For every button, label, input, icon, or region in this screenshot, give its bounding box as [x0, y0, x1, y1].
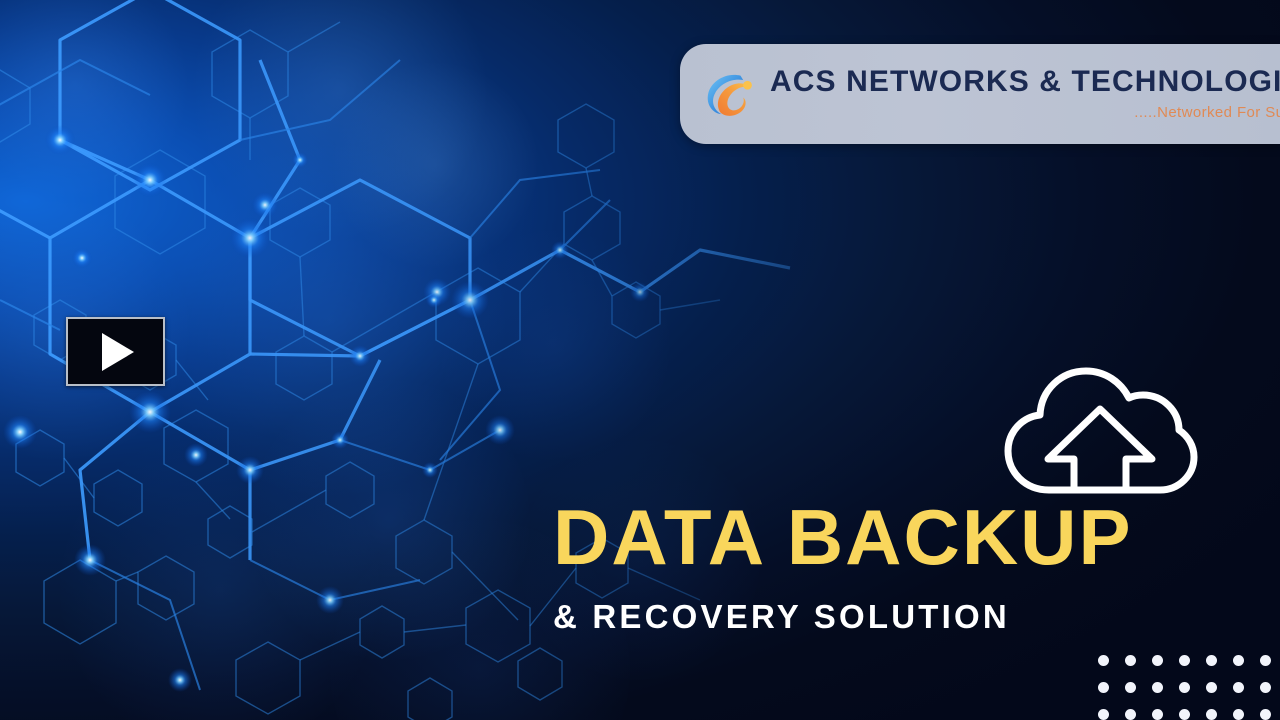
brand-wordmark: ACS NETWORKS & TECHNOLOGIES: [770, 67, 1280, 97]
grid-dot: [1125, 682, 1136, 693]
grid-dot: [1125, 709, 1136, 720]
decorative-dot-grid: [1098, 655, 1280, 720]
cloud-upload-icon: [1000, 360, 1200, 496]
grid-dot: [1152, 655, 1163, 666]
grid-dot: [1098, 709, 1109, 720]
grid-dot: [1233, 682, 1244, 693]
orbit-swoosh-logo-icon: [702, 66, 758, 122]
grid-dot: [1233, 709, 1244, 720]
grid-dot: [1206, 682, 1217, 693]
grid-dot: [1233, 655, 1244, 666]
grid-dot: [1206, 709, 1217, 720]
grid-dot: [1179, 709, 1190, 720]
grid-dot: [1179, 682, 1190, 693]
brand-banner[interactable]: ACS NETWORKS & TECHNOLOGIES .....Network…: [680, 44, 1280, 144]
brand-tagline: .....Networked For Success: [1134, 104, 1280, 121]
hero-title: DATA BACKUP: [553, 500, 1213, 576]
grid-dot: [1098, 682, 1109, 693]
grid-dot: [1260, 655, 1271, 666]
play-triangle-icon: [102, 333, 134, 371]
grid-dot: [1152, 682, 1163, 693]
grid-dot: [1260, 709, 1271, 720]
grid-dot: [1179, 655, 1190, 666]
grid-dot: [1098, 655, 1109, 666]
hero-subtitle: & RECOVERY SOLUTION: [553, 598, 1213, 636]
grid-dot: [1206, 655, 1217, 666]
slide-canvas: ACS NETWORKS & TECHNOLOGIES .....Network…: [0, 0, 1280, 720]
grid-dot: [1125, 655, 1136, 666]
grid-dot: [1152, 709, 1163, 720]
play-video-button[interactable]: [66, 317, 165, 386]
grid-dot: [1260, 682, 1271, 693]
hero-text-block: DATA BACKUP & RECOVERY SOLUTION: [553, 500, 1213, 636]
